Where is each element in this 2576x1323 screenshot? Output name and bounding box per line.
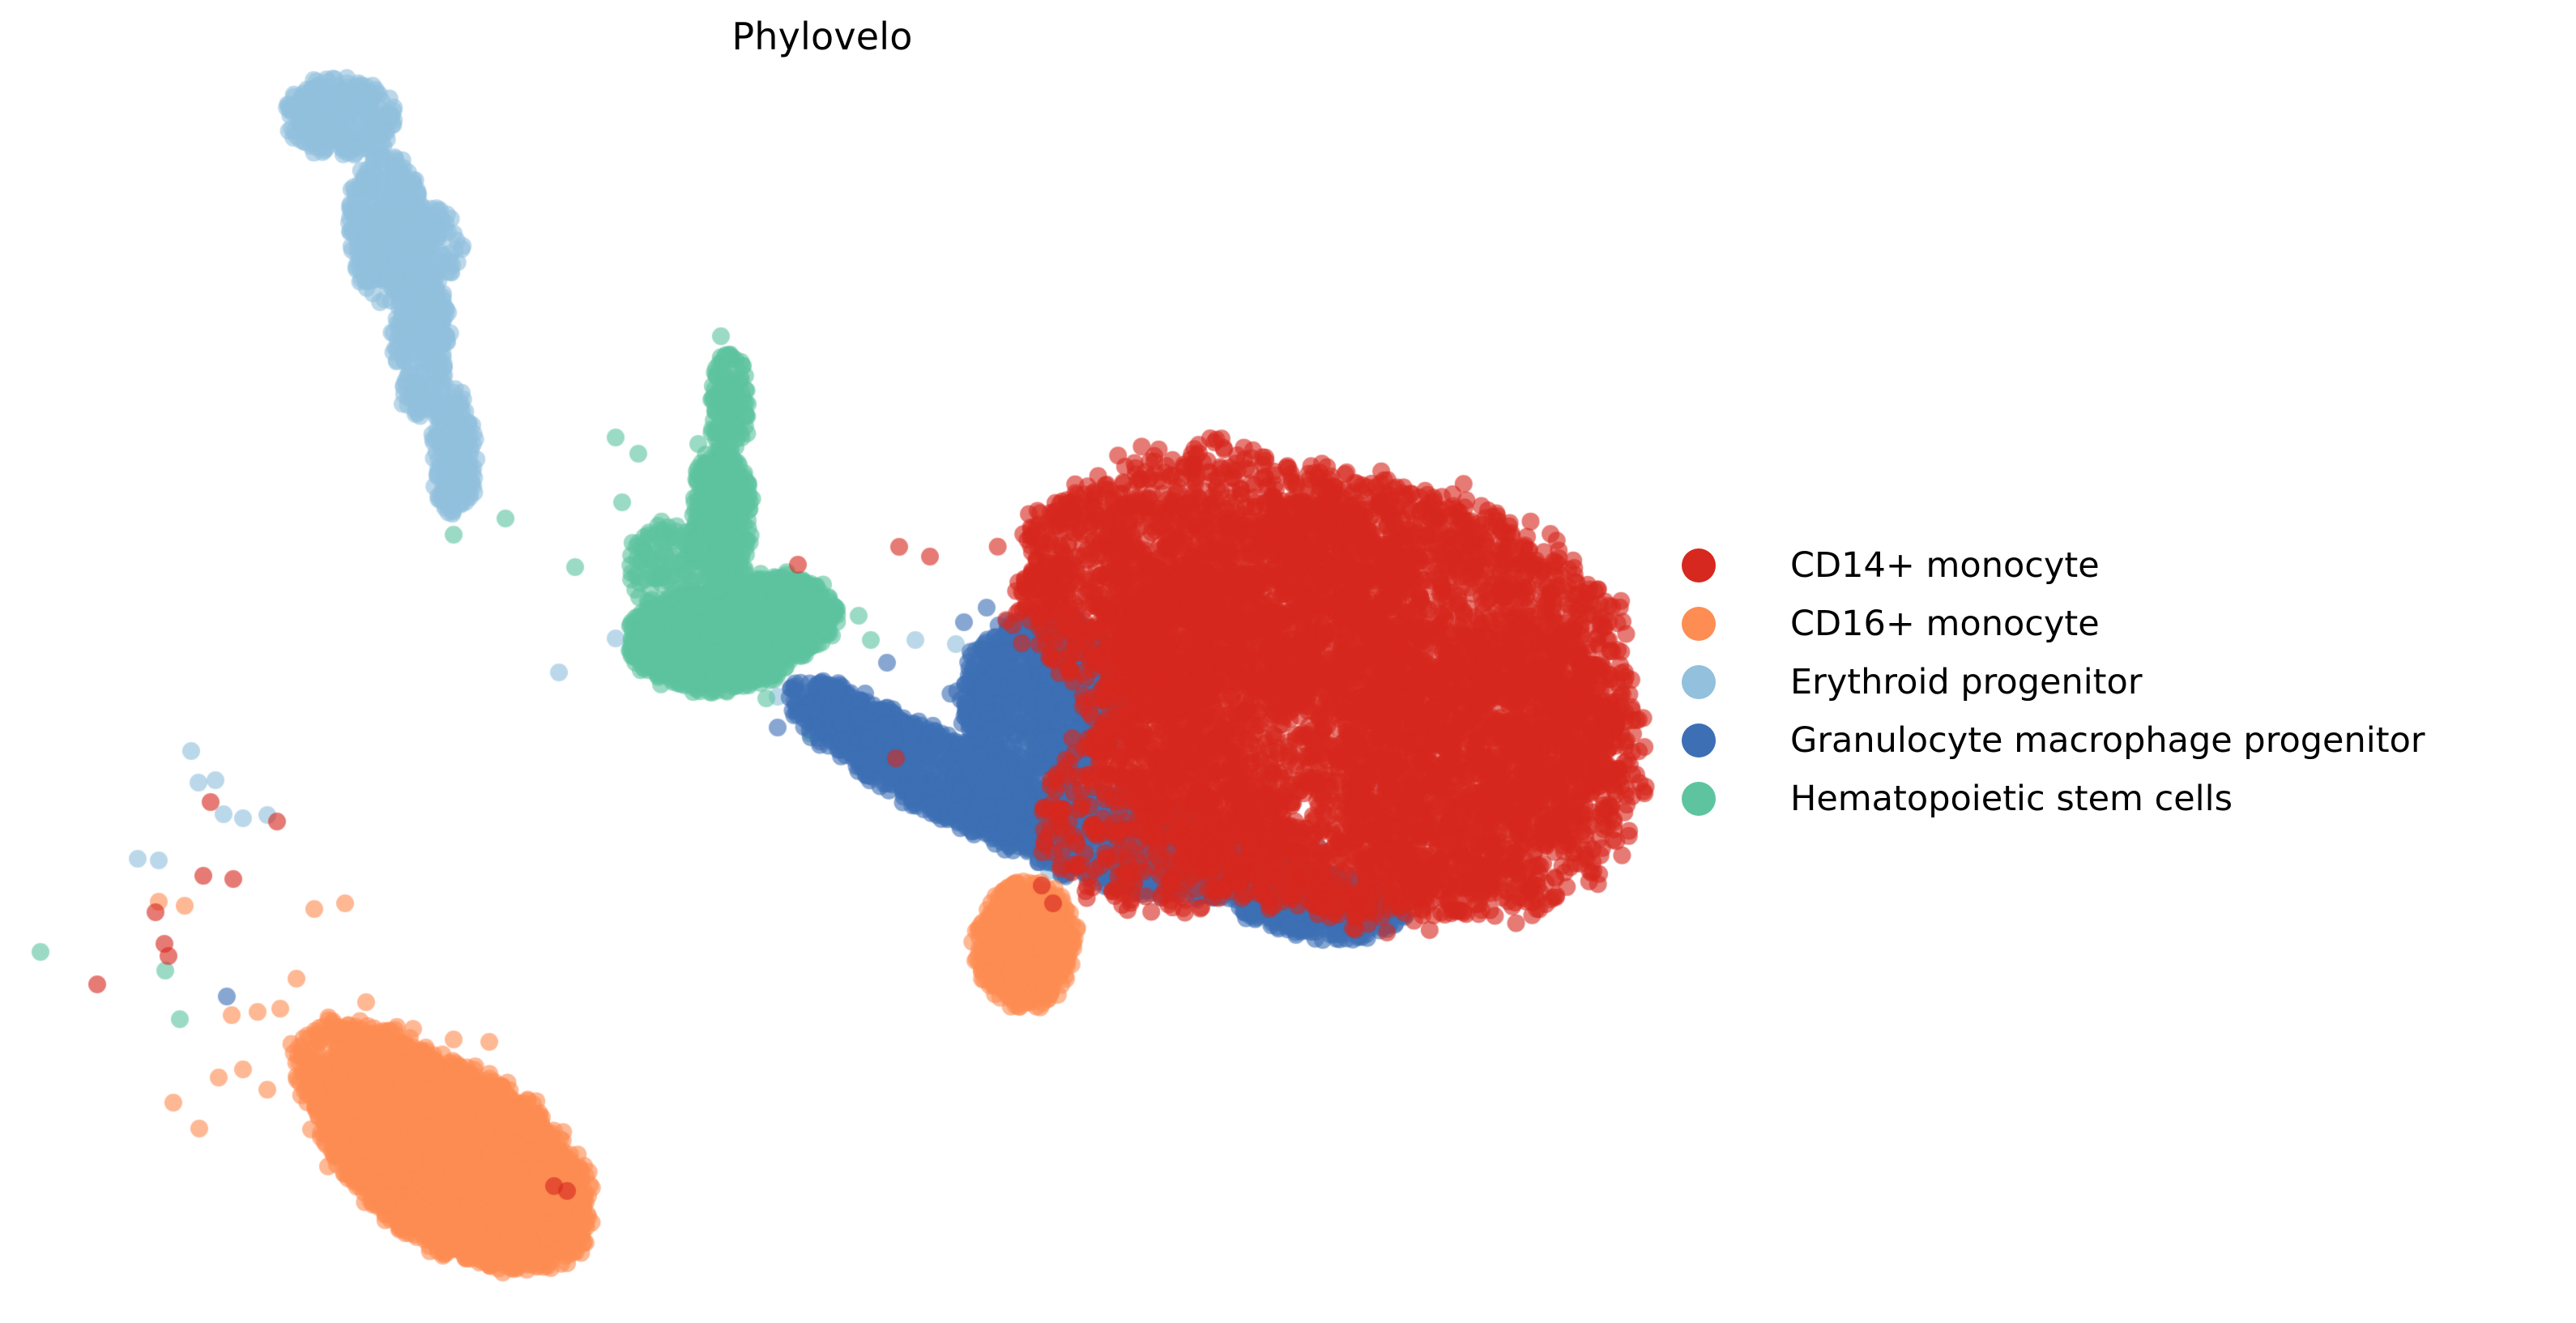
legend-marker-icon bbox=[1682, 723, 1716, 758]
legend-marker-icon bbox=[1682, 782, 1716, 816]
legend-item-label: CD16+ monocyte bbox=[1790, 607, 2100, 642]
scatter-plot-figure: Phylovelo CD14+ monocyteCD16+ monocyteEr… bbox=[0, 0, 2576, 1323]
legend-marker-icon bbox=[1682, 607, 1716, 641]
legend-item[interactable]: CD14+ monocyte bbox=[1682, 536, 2492, 595]
legend-marker-icon bbox=[1682, 548, 1716, 583]
legend: CD14+ monocyteCD16+ monocyteErythroid pr… bbox=[1682, 536, 2492, 828]
legend-item[interactable]: CD16+ monocyte bbox=[1682, 595, 2492, 653]
legend-item-label: Granulocyte macrophage progenitor bbox=[1790, 723, 2425, 758]
legend-marker-icon bbox=[1682, 665, 1716, 699]
legend-item[interactable]: Granulocyte macrophage progenitor bbox=[1682, 711, 2492, 770]
legend-item[interactable]: Hematopoietic stem cells bbox=[1682, 770, 2492, 828]
legend-item-label: Hematopoietic stem cells bbox=[1790, 782, 2233, 817]
legend-item-label: CD14+ monocyte bbox=[1790, 548, 2100, 583]
legend-item-label: Erythroid progenitor bbox=[1790, 665, 2143, 700]
legend-item[interactable]: Erythroid progenitor bbox=[1682, 653, 2492, 711]
